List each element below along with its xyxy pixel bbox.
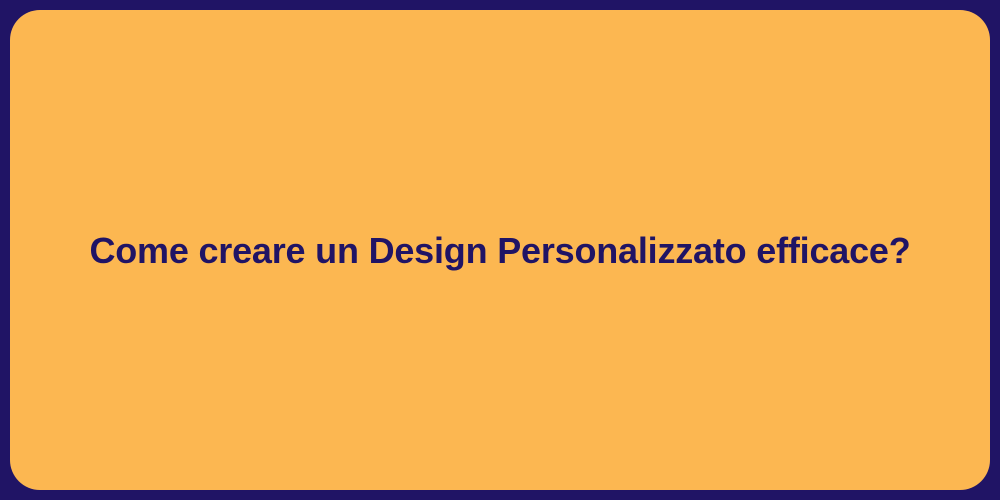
- content-card: Come creare un Design Personalizzato eff…: [10, 10, 990, 490]
- page-title: Come creare un Design Personalizzato eff…: [49, 228, 950, 273]
- page-canvas: Come creare un Design Personalizzato eff…: [0, 0, 1000, 500]
